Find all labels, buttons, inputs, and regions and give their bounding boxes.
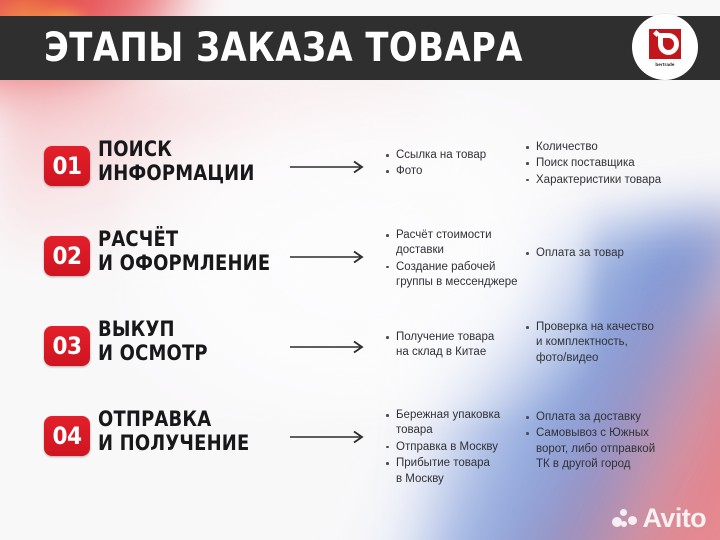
avito-wordmark: Avito <box>643 505 707 532</box>
step-details-03: Получение товара на склад в Китае Провер… <box>385 316 720 367</box>
list-item: Бережная упаковка товара <box>385 408 525 439</box>
list-item: Прибытие товара в Москву <box>385 456 525 487</box>
list-item: Получение товара на склад в Китае <box>385 330 525 361</box>
list-item: Ссылка на товар <box>385 148 525 163</box>
list-item: Отправка в Москву <box>385 440 525 455</box>
step-details-04: Бережная упаковка товара Отправка в Моск… <box>385 406 720 488</box>
detail-column-b-03: Проверка на качество и комплектность, фо… <box>525 316 720 367</box>
step-title-line2: И ПОЛУЧЕНИЕ <box>98 432 279 456</box>
step-number-04: 04 <box>52 424 81 448</box>
list-item: Расчёт стоимости доставки <box>385 228 525 259</box>
step-number-03: 03 <box>52 334 81 358</box>
infographic-canvas: ЭТАПЫ ЗАКАЗА ТОВАРА bertrade 01 ПОИСК ИН… <box>0 0 720 540</box>
logo-wordmark: bertrade <box>645 62 685 68</box>
list-item: Оплата за доставку <box>525 410 720 425</box>
detail-list-b-03: Проверка на качество и комплектность, фо… <box>525 320 720 366</box>
step-number-01: 01 <box>52 154 81 178</box>
logo-mark-icon: bertrade <box>645 27 685 67</box>
detail-list-a-03: Получение товара на склад в Китае <box>385 330 525 361</box>
detail-list-a-04: Бережная упаковка товара Отправка в Моск… <box>385 408 525 487</box>
page-title: ЭТАПЫ ЗАКАЗА ТОВАРА <box>44 28 523 68</box>
list-item: Оплата за товар <box>525 246 720 261</box>
avito-dots-icon <box>612 508 638 530</box>
step-title-04: ОТПРАВКА И ПОЛУЧЕНИЕ <box>98 408 279 455</box>
detail-column-b-02: Оплата за товар <box>525 226 720 292</box>
list-item: Создание рабочей группы в мессенджере <box>385 260 525 291</box>
step-title-line2: И ОФОРМЛЕНИЕ <box>98 252 279 276</box>
step-title-line2: ИНФОРМАЦИИ <box>98 162 279 186</box>
step-number-badge-01: 01 <box>44 146 90 186</box>
step-title-line1: ОТПРАВКА <box>98 407 211 431</box>
step-title-03: ВЫКУП И ОСМОТР <box>98 318 279 365</box>
detail-column-a-01: Ссылка на товар Фото <box>385 136 525 189</box>
step-title-02: РАСЧЁТ И ОФОРМЛЕНИЕ <box>98 228 279 275</box>
detail-list-b-01: Количество Поиск поставщика Характеристи… <box>525 140 720 188</box>
list-item: Характеристики товара <box>525 173 720 188</box>
detail-list-a-01: Ссылка на товар Фото <box>385 148 525 180</box>
step-number-badge-02: 02 <box>44 236 90 276</box>
detail-column-b-04: Оплата за доставку Самовывоз с Южных вор… <box>525 406 720 488</box>
flow-arrow-04 <box>290 430 370 444</box>
header-bar: ЭТАПЫ ЗАКАЗА ТОВАРА bertrade <box>0 16 720 80</box>
detail-column-a-03: Получение товара на склад в Китае <box>385 316 525 367</box>
step-title-line2: И ОСМОТР <box>98 342 279 366</box>
flow-arrow-03 <box>290 340 370 354</box>
detail-list-a-02: Расчёт стоимости доставки Создание рабоч… <box>385 228 525 291</box>
avito-watermark: Avito <box>612 505 707 532</box>
detail-column-a-02: Расчёт стоимости доставки Создание рабоч… <box>385 226 525 292</box>
bertrade-logo: bertrade <box>632 14 698 80</box>
list-item: Количество <box>525 140 720 155</box>
detail-list-b-04: Оплата за доставку Самовывоз с Южных вор… <box>525 410 720 473</box>
step-details-02: Расчёт стоимости доставки Создание рабоч… <box>385 226 720 292</box>
step-title-line1: РАСЧЁТ <box>98 227 178 251</box>
list-item: Самовывоз с Южных ворот, либо отправкой … <box>525 426 720 472</box>
step-number-badge-04: 04 <box>44 416 90 456</box>
flow-arrow-02 <box>290 250 370 264</box>
step-number-badge-03: 03 <box>44 326 90 366</box>
list-item: Поиск поставщика <box>525 156 720 171</box>
list-item: Проверка на качество и комплектность, фо… <box>525 320 720 366</box>
step-title-line1: ПОИСК <box>98 137 172 161</box>
logo-b-glyph <box>658 33 679 55</box>
step-number-02: 02 <box>52 244 81 268</box>
step-title-line1: ВЫКУП <box>98 317 175 341</box>
step-title-01: ПОИСК ИНФОРМАЦИИ <box>98 138 279 185</box>
list-item: Фото <box>385 164 525 179</box>
detail-column-b-01: Количество Поиск поставщика Характеристи… <box>525 136 720 189</box>
flow-arrow-01 <box>290 160 370 174</box>
step-details-01: Ссылка на товар Фото Количество Поиск по… <box>385 136 720 189</box>
detail-column-a-04: Бережная упаковка товара Отправка в Моск… <box>385 406 525 488</box>
detail-list-b-02: Оплата за товар <box>525 246 720 261</box>
